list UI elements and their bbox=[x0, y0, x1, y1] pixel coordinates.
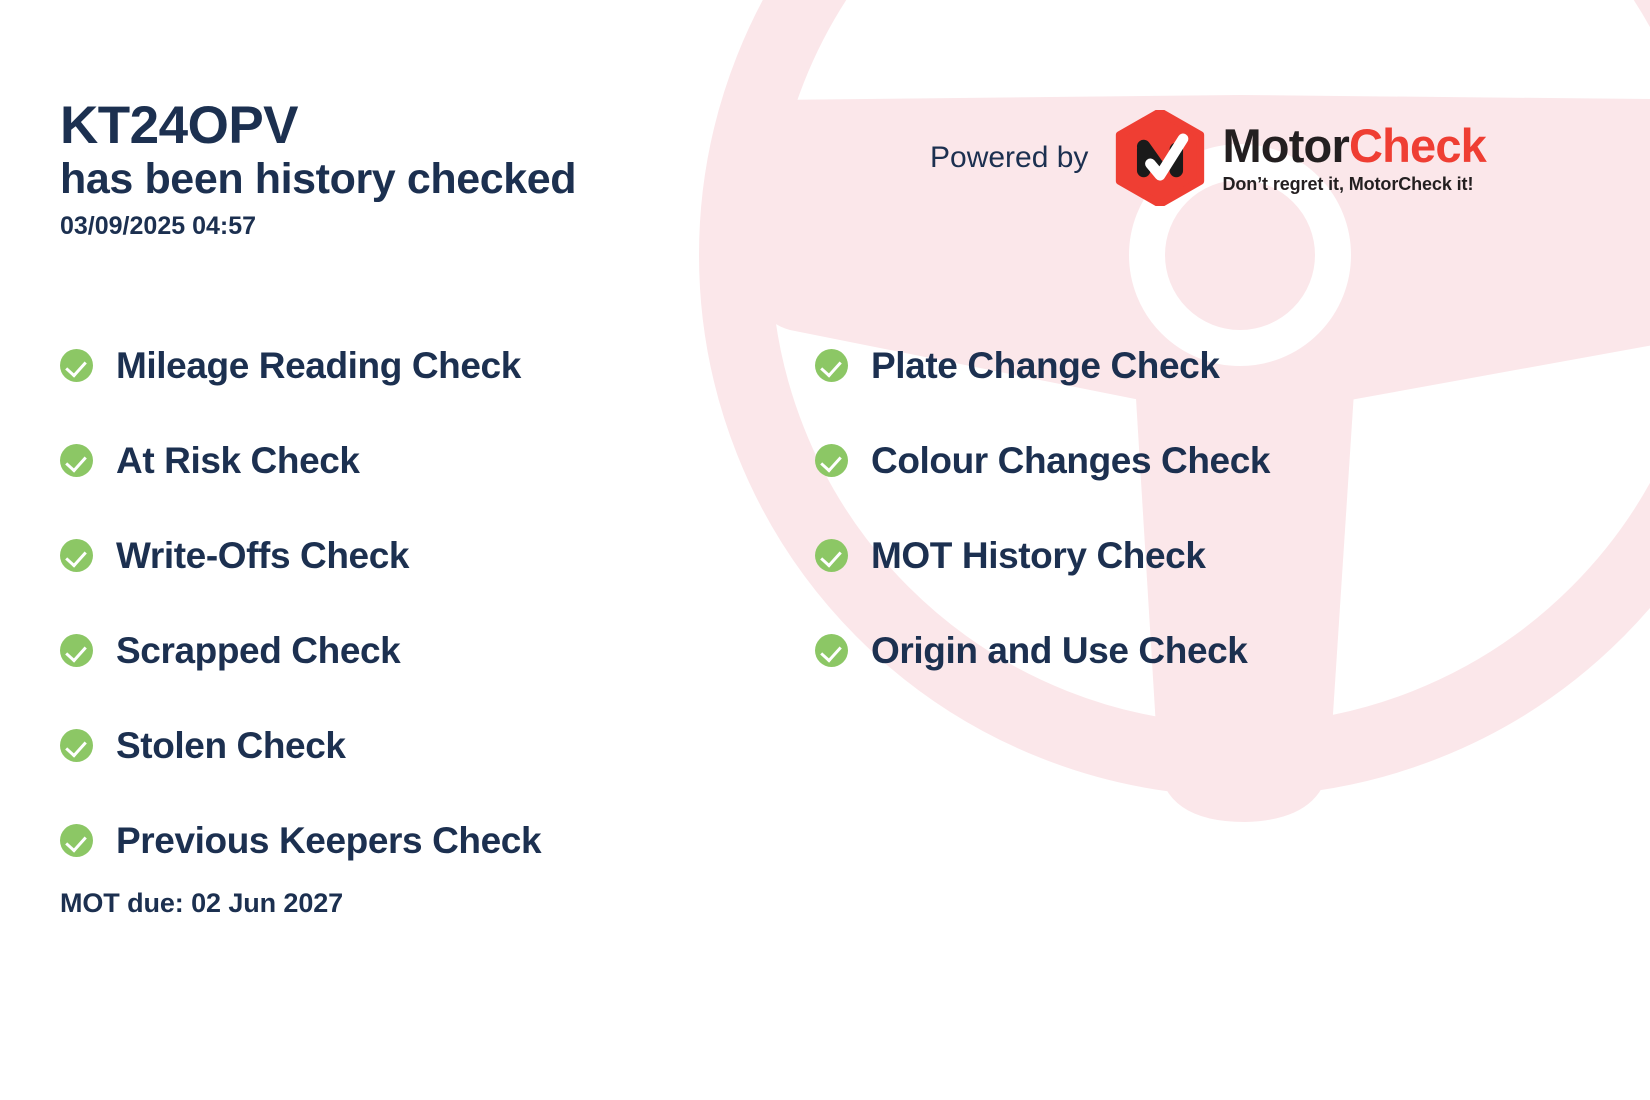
green-check-circle-icon bbox=[60, 349, 93, 382]
green-check-circle-icon bbox=[815, 444, 848, 477]
report-timestamp: 03/09/2025 04:57 bbox=[60, 212, 576, 241]
wordmark-text: MotorCheck bbox=[1222, 122, 1486, 169]
check-item: At Risk Check bbox=[60, 413, 815, 508]
motorcheck-logo[interactable]: MotorCheck Don’t regret it, MotorCheck i… bbox=[1112, 110, 1486, 206]
green-check-circle-icon bbox=[815, 634, 848, 667]
check-item: MOT History Check bbox=[815, 508, 1515, 603]
green-check-circle-icon bbox=[60, 634, 93, 667]
check-label: Write-Offs Check bbox=[116, 537, 409, 574]
check-label: Previous Keepers Check bbox=[116, 822, 541, 859]
green-check-circle-icon bbox=[60, 444, 93, 477]
check-label: MOT History Check bbox=[871, 537, 1206, 574]
check-label: Mileage Reading Check bbox=[116, 347, 521, 384]
green-check-circle-icon bbox=[60, 539, 93, 572]
brand-tagline: Don’t regret it, MotorCheck it! bbox=[1222, 174, 1486, 195]
green-check-circle-icon bbox=[60, 824, 93, 857]
powered-by-label: Powered by bbox=[930, 141, 1088, 175]
check-item: Write-Offs Check bbox=[60, 508, 815, 603]
check-label: Plate Change Check bbox=[871, 347, 1220, 384]
check-item: Colour Changes Check bbox=[815, 413, 1515, 508]
check-label: Scrapped Check bbox=[116, 632, 400, 669]
check-item: Scrapped Check bbox=[60, 603, 815, 698]
green-check-circle-icon bbox=[815, 349, 848, 382]
check-item: Plate Change Check bbox=[815, 318, 1515, 413]
motorcheck-wordmark: MotorCheck Don’t regret it, MotorCheck i… bbox=[1222, 122, 1486, 195]
green-check-circle-icon bbox=[815, 539, 848, 572]
check-label: Stolen Check bbox=[116, 727, 346, 764]
report-header: KT24OPV has been history checked 03/09/2… bbox=[60, 96, 576, 241]
powered-by-block: Powered by MotorCheck Don’t regret it, M… bbox=[930, 110, 1486, 206]
check-item: Previous Keepers Check bbox=[60, 793, 815, 888]
check-label: Colour Changes Check bbox=[871, 442, 1270, 479]
checks-list: Mileage Reading Check At Risk Check Writ… bbox=[60, 318, 1600, 888]
checks-column-right: Plate Change Check Colour Changes Check … bbox=[815, 318, 1515, 888]
check-item: Stolen Check bbox=[60, 698, 815, 793]
motorcheck-hexagon-logo-icon bbox=[1112, 110, 1208, 206]
registration-number: KT24OPV bbox=[60, 96, 576, 155]
wordmark-motor: Motor bbox=[1222, 119, 1349, 172]
mot-due-text: MOT due: 02 Jun 2027 bbox=[60, 888, 343, 919]
check-label: Origin and Use Check bbox=[871, 632, 1248, 669]
green-check-circle-icon bbox=[60, 729, 93, 762]
checks-column-left: Mileage Reading Check At Risk Check Writ… bbox=[60, 318, 815, 888]
report-subtitle: has been history checked bbox=[60, 155, 576, 203]
wordmark-check: Check bbox=[1349, 119, 1486, 172]
check-item: Origin and Use Check bbox=[815, 603, 1515, 698]
check-item: Mileage Reading Check bbox=[60, 318, 815, 413]
check-label: At Risk Check bbox=[116, 442, 360, 479]
